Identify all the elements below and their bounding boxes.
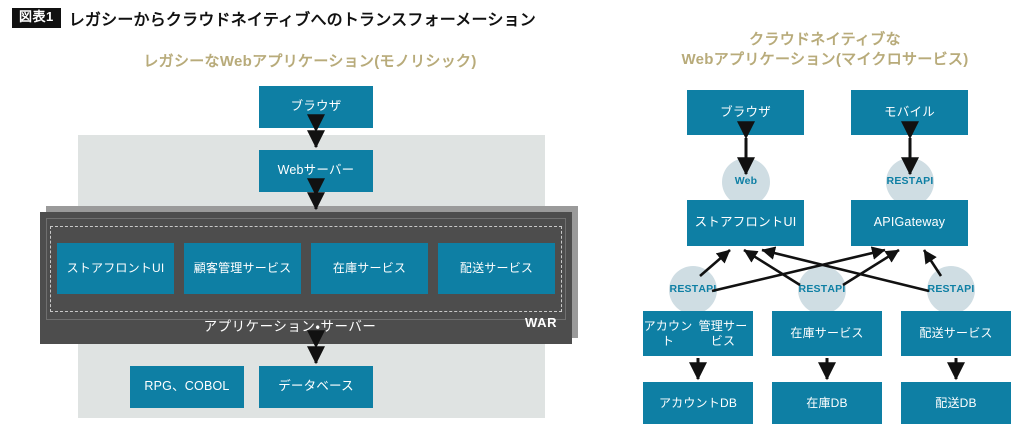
microservice-account-mgmt: アカウント管理サービス	[643, 311, 753, 356]
database-shipping: 配送DB	[901, 382, 1011, 424]
api-gateway-box: APIGateway	[851, 200, 968, 246]
rest-api-badge-mobile: RESTAPI	[886, 158, 934, 206]
rest-api-badge-shipping: RESTAPI	[927, 266, 975, 314]
right-section-heading: クラウドネイティブな Webアプリケーション(マイクロサービス)	[625, 30, 1025, 71]
arrow-inventory-to-gateway	[843, 250, 899, 285]
legacy-service-inventory: 在庫サービス	[311, 243, 428, 294]
cloud-mobile-box: モバイル	[851, 90, 968, 135]
store-front-ui-box: ストアフロントUI	[687, 200, 804, 246]
left-section-heading: レガシーなWebアプリケーション(モノリシック)	[60, 52, 560, 72]
page-title-bar: 図表1 レガシーからクラウドネイティブへのトランスフォーメーション	[12, 6, 536, 30]
database-account: アカウントDB	[643, 382, 753, 424]
legacy-service-store-front: ストアフロントUI	[57, 243, 174, 294]
right-heading-line-2: Webアプリケーション(マイクロサービス)	[625, 50, 1025, 70]
right-heading-line-1: クラウドネイティブな	[625, 30, 1025, 50]
war-label: WAR	[525, 315, 557, 330]
legacy-web-server-box: Webサーバー	[259, 150, 373, 192]
legacy-browser-box: ブラウザ	[259, 86, 373, 128]
web-protocol-badge: Web	[722, 158, 770, 206]
app-server-label: アプリケーション・サーバー	[40, 315, 540, 335]
legacy-database-box: データベース	[259, 366, 373, 408]
legacy-service-customer-mgmt: 顧客管理サービス	[184, 243, 301, 294]
arrow-inventory-to-frontui	[744, 250, 800, 285]
microservice-inventory: 在庫サービス	[772, 311, 882, 356]
rest-api-badge-inventory: RESTAPI	[798, 266, 846, 314]
rest-api-badge-account: RESTAPI	[669, 266, 717, 314]
database-inventory: 在庫DB	[772, 382, 882, 424]
cloud-browser-box: ブラウザ	[687, 90, 804, 135]
page-title: レガシーからクラウドネイティブへのトランスフォーメーション	[69, 6, 536, 30]
microservice-shipping: 配送サービス	[901, 311, 1011, 356]
legacy-service-shipping: 配送サービス	[438, 243, 555, 294]
legacy-rpg-cobol-box: RPG、COBOL	[130, 366, 244, 408]
figure-number-badge: 図表1	[12, 8, 61, 27]
